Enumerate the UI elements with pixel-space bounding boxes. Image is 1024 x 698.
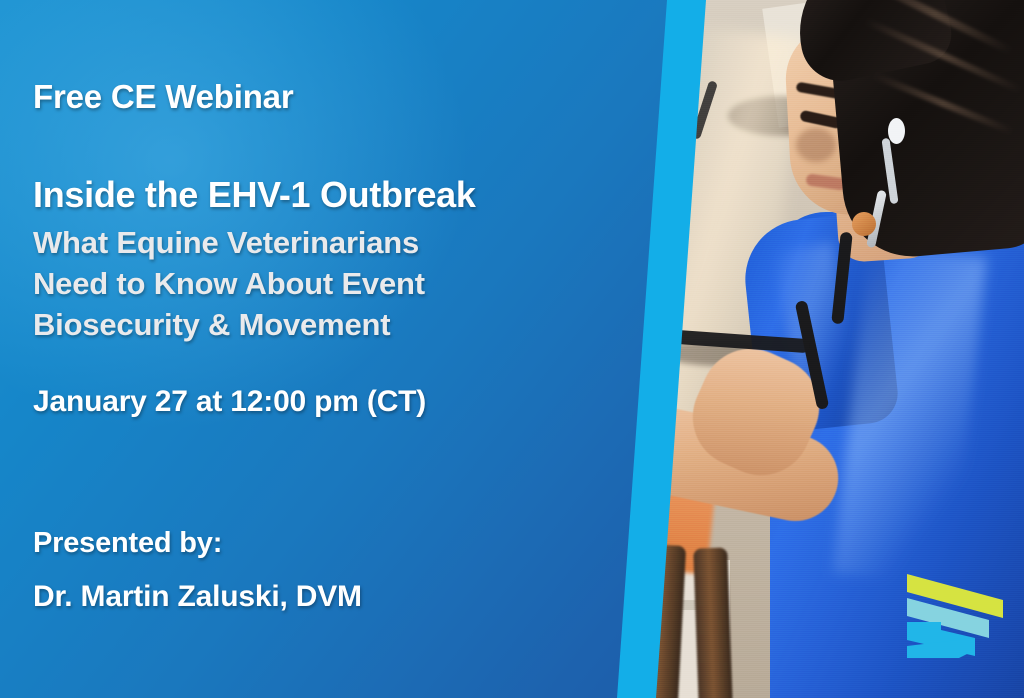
- subtitle-line-1: What Equine Veterinarians: [33, 223, 633, 264]
- subtitle-line-2: Need to Know About Event: [33, 264, 633, 305]
- chevron-logo-icon: [903, 572, 1009, 658]
- brand-logo: [903, 572, 1009, 658]
- webinar-promo-graphic: Free CE Webinar Inside the EHV-1 Outbrea…: [0, 0, 1024, 698]
- subtitle-line-3: Biosecurity & Movement: [33, 305, 633, 346]
- event-datetime: January 27 at 12:00 pm (CT): [33, 385, 633, 419]
- eyebrow-label: Free CE Webinar: [33, 78, 633, 116]
- page-title: Inside the EHV-1 Outbreak: [33, 174, 633, 216]
- presenter-name: Dr. Martin Zaluski, DVM: [33, 580, 633, 614]
- panel-glow: [0, 0, 480, 440]
- presented-by-label: Presented by:: [33, 527, 633, 560]
- subtitle: What Equine Veterinarians Need to Know A…: [33, 223, 633, 346]
